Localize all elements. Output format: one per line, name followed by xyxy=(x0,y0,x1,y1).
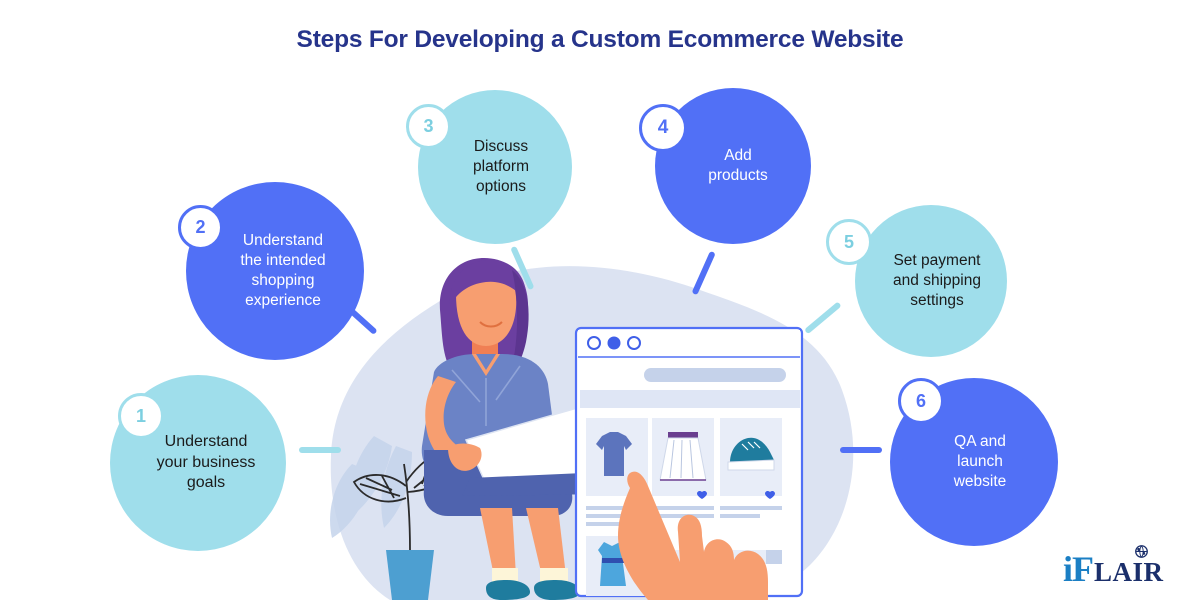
search-bar-placeholder xyxy=(644,368,786,382)
logo-letters-lair: LAIR xyxy=(1094,557,1164,588)
globe-icon xyxy=(1135,545,1148,558)
logo-letter-f: F xyxy=(1072,548,1094,590)
step-label-3: Discuss platform options xyxy=(459,137,543,196)
step-circle-5[interactable]: Set payment and shipping settings xyxy=(855,205,1007,357)
connector-step-6 xyxy=(840,447,882,453)
step-badge-1: 1 xyxy=(118,393,164,439)
step-label-6: QA and launch website xyxy=(940,432,1021,491)
browser-dot-2 xyxy=(608,337,621,350)
infographic-canvas: Steps For Developing a Custom Ecommerce … xyxy=(0,0,1200,600)
step-badge-3: 3 xyxy=(406,104,451,149)
step-badge-2: 2 xyxy=(178,205,223,250)
browser-dot-1 xyxy=(588,337,600,349)
step-label-2: Understand the intended shopping experie… xyxy=(226,231,339,310)
browser-dot-3 xyxy=(628,337,640,349)
step-label-1: Understand your business goals xyxy=(143,432,270,493)
step-label-4: Add products xyxy=(694,146,781,186)
logo-letter-i: i xyxy=(1063,548,1072,590)
step-badge-5: 5 xyxy=(826,219,872,265)
iflair-logo[interactable]: i F LAIR xyxy=(1063,548,1164,590)
connector-step-1 xyxy=(299,447,341,453)
page-title: Steps For Developing a Custom Ecommerce … xyxy=(0,26,1200,54)
step-badge-6: 6 xyxy=(898,378,944,424)
step-label-5: Set payment and shipping settings xyxy=(879,251,995,310)
step-badge-4: 4 xyxy=(639,104,687,152)
central-illustration xyxy=(330,250,870,600)
